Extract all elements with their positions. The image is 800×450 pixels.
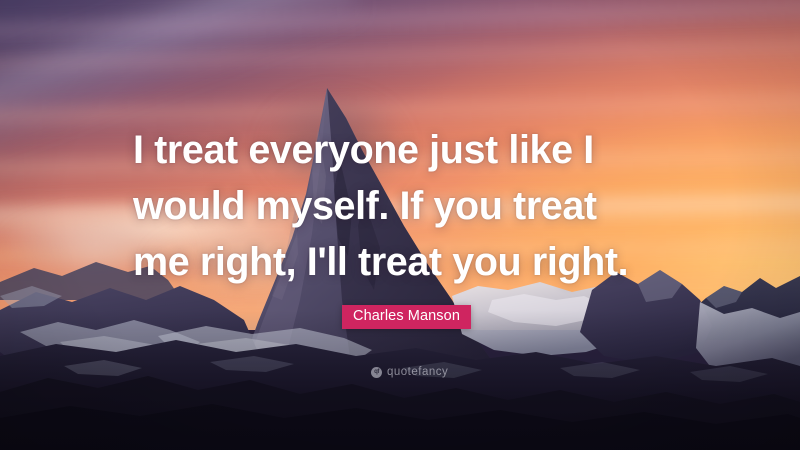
quotefancy-logo-icon: qf bbox=[371, 367, 382, 378]
quote-text: I treat everyone just like I would mysel… bbox=[133, 122, 733, 290]
quote-image: I treat everyone just like I would mysel… bbox=[0, 0, 800, 450]
watermark-brand: quotefancy bbox=[387, 366, 448, 378]
watermark: qf quotefancy bbox=[371, 366, 448, 378]
quote-line-1: I treat everyone just like I bbox=[133, 122, 733, 178]
logo-glyph: qf bbox=[374, 369, 379, 375]
quote-line-3: me right, I'll treat you right. bbox=[133, 234, 733, 290]
author-badge: Charles Manson bbox=[342, 305, 471, 329]
quote-line-2: would myself. If you treat bbox=[133, 178, 733, 234]
